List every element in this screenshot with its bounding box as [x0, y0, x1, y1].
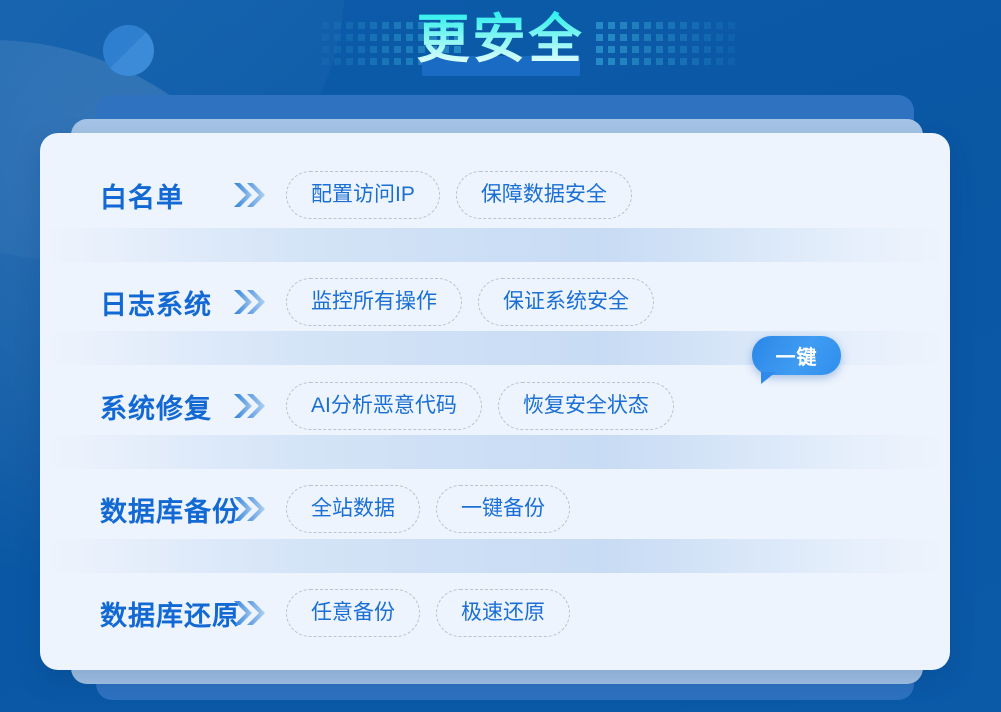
- feature-row-arrow: [232, 598, 286, 628]
- feature-tag: 任意备份: [286, 589, 420, 636]
- feature-row-label: 数据库备份: [40, 490, 232, 529]
- page-title: 更安全: [417, 9, 585, 71]
- feature-tag: 监控所有操作: [286, 278, 462, 325]
- feature-row-arrow: [232, 180, 286, 210]
- feature-row-label: 日志系统: [40, 283, 232, 322]
- feature-tag: 极速还原: [436, 589, 570, 636]
- feature-tag: AI分析恶意代码: [286, 382, 482, 429]
- promo-banner: 更安全 白名单配置访问IP保障数据安全日志系统监控所有操作保证系统安全系统修复A…: [0, 0, 1001, 712]
- feature-row: 系统修复AI分析恶意代码恢复安全状态: [40, 378, 950, 434]
- feature-tag-list: 任意备份极速还原: [286, 589, 570, 636]
- feature-tag: 保证系统安全: [478, 278, 654, 325]
- double-chevron-right-icon: [232, 598, 268, 628]
- double-chevron-right-icon: [232, 391, 268, 421]
- feature-row: 数据库还原任意备份极速还原: [40, 585, 950, 641]
- feature-tag: 一键备份: [436, 485, 570, 532]
- feature-row-label: 数据库还原: [40, 594, 232, 633]
- double-chevron-right-icon: [232, 494, 268, 524]
- feature-row-arrow: [232, 391, 286, 421]
- feature-row: 白名单配置访问IP保障数据安全: [40, 167, 950, 223]
- feature-tag-list: 配置访问IP保障数据安全: [286, 171, 632, 218]
- feature-tag: 全站数据: [286, 485, 420, 532]
- feature-row-list: 白名单配置访问IP保障数据安全日志系统监控所有操作保证系统安全系统修复AI分析恶…: [40, 133, 950, 670]
- feature-row-arrow: [232, 287, 286, 317]
- feature-tag-list: AI分析恶意代码恢复安全状态: [286, 382, 674, 429]
- feature-tag-list: 全站数据一键备份: [286, 485, 570, 532]
- feature-tag: 配置访问IP: [286, 171, 440, 218]
- headline-area: 更安全: [0, 9, 1001, 71]
- feature-tag-list: 监控所有操作保证系统安全: [286, 278, 654, 325]
- feature-tag: 恢复安全状态: [498, 382, 674, 429]
- double-chevron-right-icon: [232, 287, 268, 317]
- one-key-badge: 一键: [752, 336, 841, 375]
- feature-row-label: 系统修复: [40, 387, 232, 426]
- feature-card: 白名单配置访问IP保障数据安全日志系统监控所有操作保证系统安全系统修复AI分析恶…: [40, 133, 950, 670]
- feature-row-label: 白名单: [40, 176, 232, 215]
- feature-row-arrow: [232, 494, 286, 524]
- double-chevron-right-icon: [232, 180, 268, 210]
- feature-row: 日志系统监控所有操作保证系统安全: [40, 274, 950, 330]
- feature-tag: 保障数据安全: [456, 171, 632, 218]
- feature-row: 数据库备份全站数据一键备份: [40, 481, 950, 537]
- one-key-badge-label: 一键: [776, 341, 818, 370]
